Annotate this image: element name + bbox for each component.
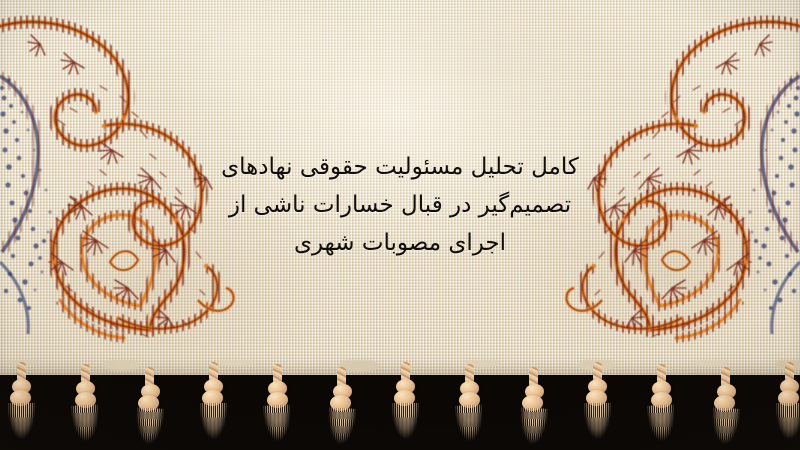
tassel <box>390 362 420 442</box>
tassel-fringe <box>0 362 800 450</box>
tassel <box>326 367 356 447</box>
tassel-brush <box>200 403 227 442</box>
tassel-brush <box>135 407 164 447</box>
tassel <box>710 367 740 447</box>
tassel-brush <box>327 407 356 447</box>
tassel-brush <box>776 403 800 442</box>
tassel <box>198 362 228 442</box>
tassel <box>262 364 292 444</box>
tassel-brush <box>263 404 292 444</box>
tassel <box>134 367 164 447</box>
tassel <box>582 362 612 442</box>
tassel-brush <box>519 407 548 447</box>
tassel <box>646 364 676 444</box>
tassel-brush <box>392 403 419 442</box>
tassel-brush <box>711 407 740 447</box>
tassel <box>518 367 548 447</box>
title-line-3: اجرای مصوبات شهری <box>180 224 620 262</box>
tassel <box>6 362 36 442</box>
tassel <box>774 362 800 442</box>
title-line-2: تصمیم‌گیر در قبال خسارات ناشی از <box>180 186 620 224</box>
tassel-brush <box>455 404 484 444</box>
slide-title: کامل تحلیل مسئولیت حقوقی نهادهای تصمیم‌گ… <box>0 148 800 262</box>
tassel <box>454 364 484 444</box>
tassel <box>70 364 100 444</box>
tassel-brush <box>584 403 611 442</box>
tassel-brush <box>8 403 35 442</box>
slide-canvas: کامل تحلیل مسئولیت حقوقی نهادهای تصمیم‌گ… <box>0 0 800 450</box>
tassel-brush <box>647 404 676 444</box>
tassel-brush <box>71 404 100 444</box>
title-line-1: کامل تحلیل مسئولیت حقوقی نهادهای <box>180 148 620 186</box>
